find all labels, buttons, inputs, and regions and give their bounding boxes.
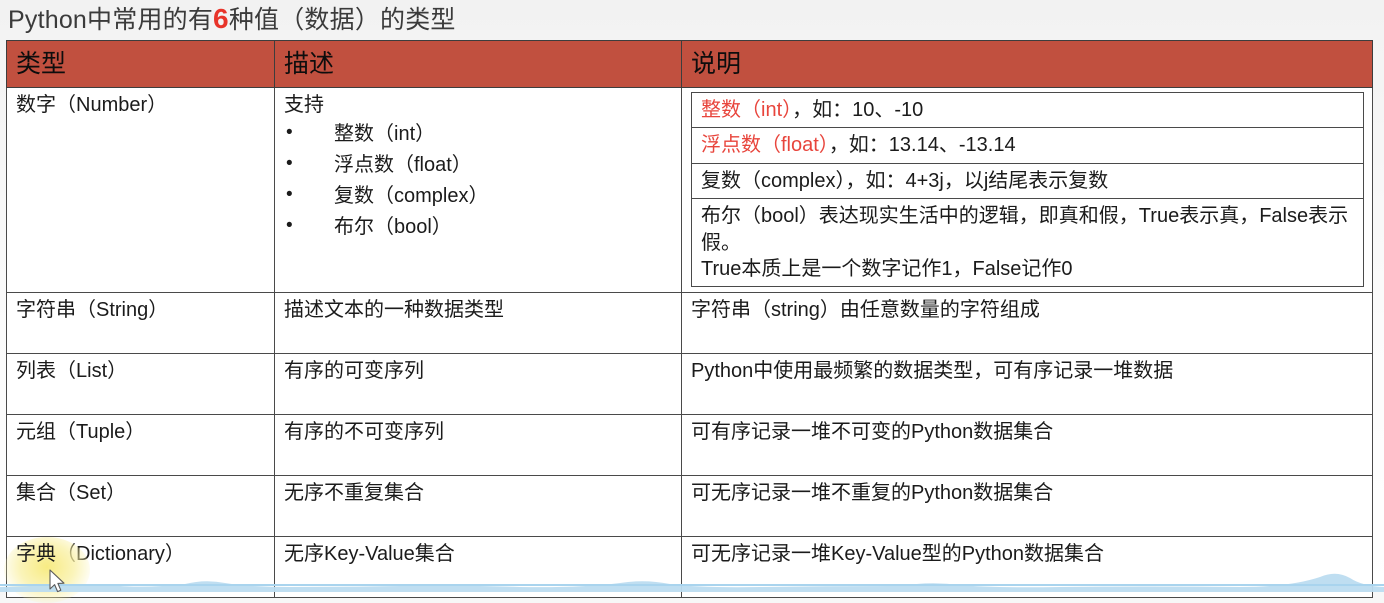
cell-description-set: 无序不重复集合 [275, 476, 682, 537]
table-body: 数字（Number） 支持 整数（int） 浮点数（float） 复数（comp… [7, 88, 1373, 598]
description-lead: 支持 [284, 92, 673, 118]
note-subrow-float: 浮点数（float），如：13.14、-13.14 [692, 128, 1364, 163]
cell-description-list: 有序的可变序列 [275, 354, 682, 415]
note-float-red: 浮点数（float） [701, 134, 829, 156]
note-float: 浮点数（float），如：13.14、-13.14 [692, 128, 1364, 163]
cell-type-set: 集合（Set） [7, 476, 275, 537]
cell-type-number: 数字（Number） [7, 88, 275, 293]
note-int: 整数（int），如：10、-10 [692, 93, 1364, 128]
table-row-dictionary: 字典 （Dictionary） 无序Key-Value集合 可无序记录一堆Key… [7, 537, 1373, 598]
bullet-item-bool: 布尔（bool） [284, 212, 673, 243]
note-bool: 布尔（bool）表达现实生活中的逻辑，即真和假，True表示真，False表示假… [692, 199, 1364, 287]
table-row-string: 字符串（String） 描述文本的一种数据类型 字符串（string）由任意数量… [7, 293, 1373, 354]
data-types-table: 类型 描述 说明 数字（Number） 支持 整数（int） 浮点数（float… [6, 40, 1373, 598]
cell-note-list: Python中使用最频繁的数据类型，可有序记录一堆数据 [682, 354, 1373, 415]
cell-description-dictionary: 无序Key-Value集合 [275, 537, 682, 598]
cell-type-tuple: 元组（Tuple） [7, 415, 275, 476]
note-subrow-bool: 布尔（bool）表达现实生活中的逻辑，即真和假，True表示真，False表示假… [692, 199, 1364, 287]
note-float-black: ，如：13.14、-13.14 [829, 134, 1016, 156]
cell-description-string: 描述文本的一种数据类型 [275, 293, 682, 354]
description-bullet-list: 整数（int） 浮点数（float） 复数（complex） 布尔（bool） [284, 119, 673, 243]
cell-note-dictionary: 可无序记录一堆Key-Value型的Python数据集合 [682, 537, 1373, 598]
bullet-item-int: 整数（int） [284, 119, 673, 150]
column-header-description: 描述 [275, 41, 682, 88]
cell-description-tuple: 有序的不可变序列 [275, 415, 682, 476]
column-header-type: 类型 [7, 41, 275, 88]
dictionary-highlight-wrap: 字典 [16, 541, 56, 567]
table-header: 类型 描述 说明 [7, 41, 1373, 88]
cell-type-list: 列表（List） [7, 354, 275, 415]
dictionary-type-rest: （Dictionary） [56, 543, 185, 565]
cell-description-number: 支持 整数（int） 浮点数（float） 复数（complex） 布尔（boo… [275, 88, 682, 293]
note-int-red: 整数（int） [701, 99, 792, 121]
cell-note-string: 字符串（string）由任意数量的字符组成 [682, 293, 1373, 354]
page-title: Python中常用的有6种值（数据）的类型 [8, 2, 456, 36]
title-suffix: 种值（数据）的类型 [229, 6, 456, 34]
table-row-list: 列表（List） 有序的可变序列 Python中使用最频繁的数据类型，可有序记录… [7, 354, 1373, 415]
table-row-tuple: 元组（Tuple） 有序的不可变序列 可有序记录一堆不可变的Python数据集合 [7, 415, 1373, 476]
note-bool-line1: 布尔（bool）表达现实生活中的逻辑，即真和假，True表示真，False表示假… [701, 205, 1348, 253]
cell-note-set: 可无序记录一堆不重复的Python数据集合 [682, 476, 1373, 537]
note-subrow-int: 整数（int），如：10、-10 [692, 93, 1364, 128]
note-int-black: ，如：10、-10 [792, 99, 923, 121]
note-bool-line2: True本质上是一个数字记作1，False记作0 [701, 258, 1073, 280]
cell-type-dictionary: 字典 （Dictionary） [7, 537, 275, 598]
title-count: 6 [213, 3, 229, 34]
dictionary-highlight-text: 字典 [16, 543, 56, 565]
slide-canvas: Python中常用的有6种值（数据）的类型 类型 描述 说明 数字（Number… [0, 0, 1384, 592]
column-header-note: 说明 [682, 41, 1373, 88]
table-row-number: 数字（Number） 支持 整数（int） 浮点数（float） 复数（comp… [7, 88, 1373, 293]
note-subtable: 整数（int），如：10、-10 浮点数（float），如：13.14、-13.… [691, 92, 1364, 287]
table-header-row: 类型 描述 说明 [7, 41, 1373, 88]
bullet-item-float: 浮点数（float） [284, 150, 673, 181]
note-subrow-complex: 复数（complex），如：4+3j，以j结尾表示复数 [692, 163, 1364, 198]
cell-note-tuple: 可有序记录一堆不可变的Python数据集合 [682, 415, 1373, 476]
title-prefix: Python中常用的有 [8, 6, 213, 34]
cell-note-number: 整数（int），如：10、-10 浮点数（float），如：13.14、-13.… [682, 88, 1373, 293]
table-row-set: 集合（Set） 无序不重复集合 可无序记录一堆不重复的Python数据集合 [7, 476, 1373, 537]
note-complex: 复数（complex），如：4+3j，以j结尾表示复数 [692, 163, 1364, 198]
bullet-item-complex: 复数（complex） [284, 181, 673, 212]
cell-type-string: 字符串（String） [7, 293, 275, 354]
